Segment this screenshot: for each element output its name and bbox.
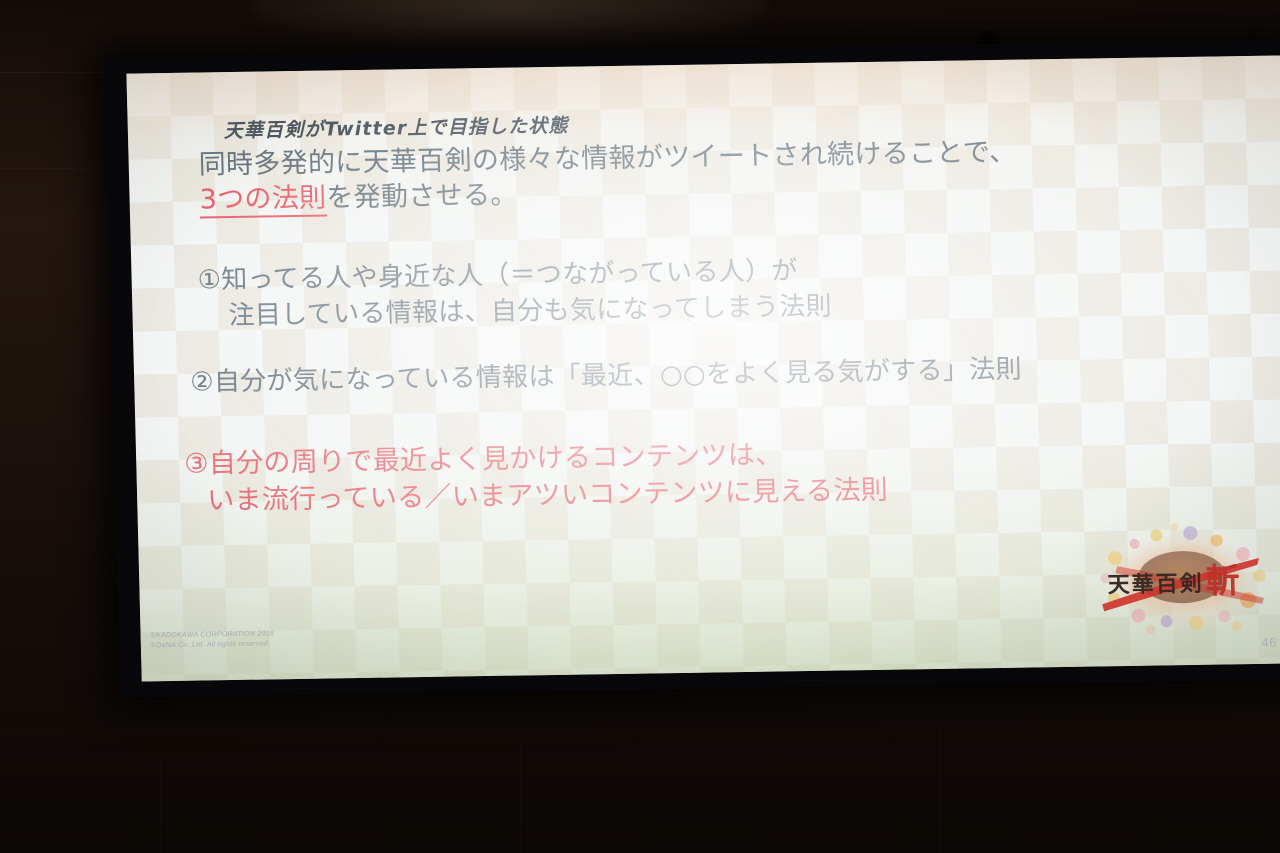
presentation-slide: 天華百剣がTwitter上で目指した状態 同時多発的に天華百剣の様々な情報がツイ… [126, 55, 1280, 681]
slide-vignette [126, 55, 1280, 681]
projection-screen: 天華百剣がTwitter上で目指した状態 同時多発的に天華百剣の様々な情報がツイ… [0, 0, 1280, 853]
screen-bezel: 天華百剣がTwitter上で目指した状態 同時多発的に天華百剣の様々な情報がツイ… [104, 39, 1280, 697]
